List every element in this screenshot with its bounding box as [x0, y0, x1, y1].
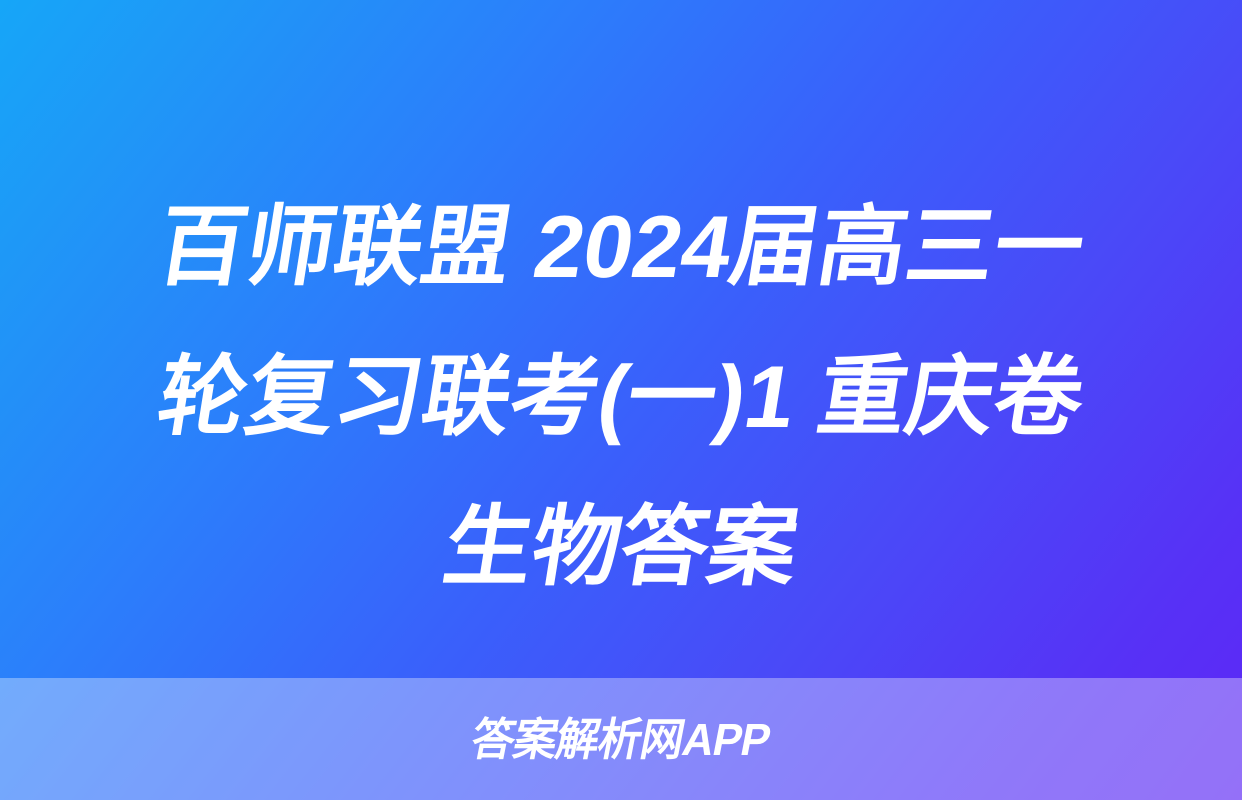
footer-banner: 答案解析网APP: [0, 678, 1242, 800]
title-line-2: 轮复习联考(一)1 重庆卷: [48, 322, 1194, 472]
title-line-1: 百师联盟 2024届高三一: [48, 172, 1194, 322]
app-brand-label: 答案解析网APP: [468, 717, 774, 762]
title-line-3: 生物答案: [48, 472, 1194, 622]
poster-canvas: 百师联盟 2024届高三一 轮复习联考(一)1 重庆卷 生物答案 答案解析网AP…: [0, 0, 1242, 800]
poster-title: 百师联盟 2024届高三一 轮复习联考(一)1 重庆卷 生物答案: [0, 172, 1242, 622]
